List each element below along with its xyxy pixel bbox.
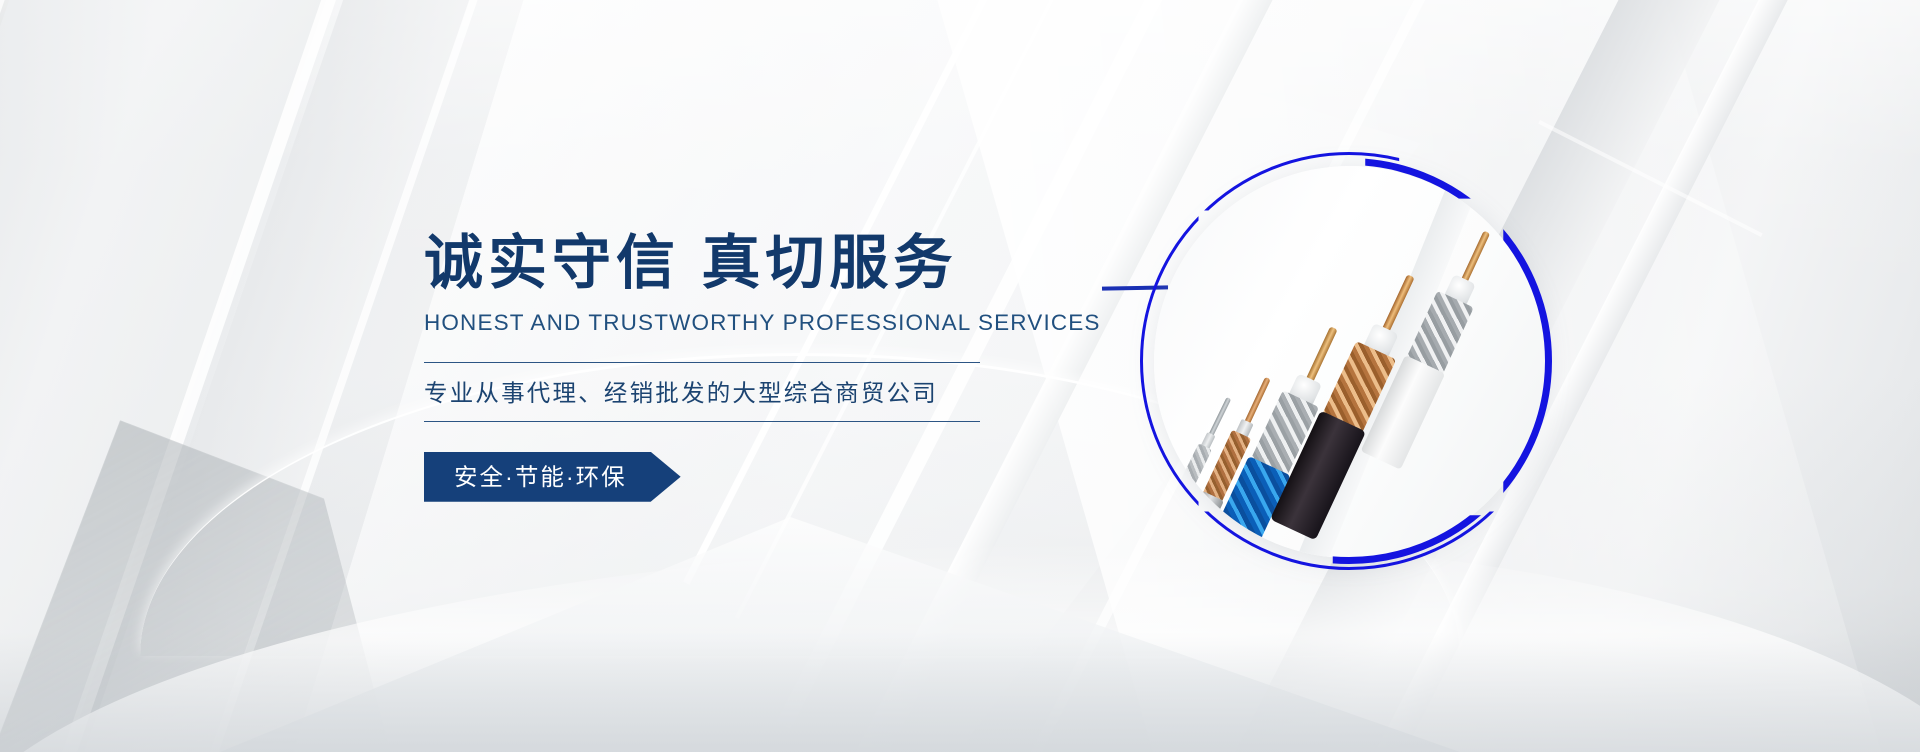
banner-copy-block: 诚实守信 真切服务 HONEST AND TRUSTWORTHY PROFESS… (424, 232, 1064, 502)
description-rule-box: 专业从事代理、经销批发的大型综合商贸公司 (424, 362, 980, 422)
subtitle-english: HONEST AND TRUSTWORTHY PROFESSIONAL SERV… (424, 310, 1064, 336)
background-floor-shade (0, 632, 1920, 752)
description-text: 专业从事代理、经销批发的大型综合商贸公司 (424, 374, 980, 408)
feature-tag-badge[interactable]: 安全·节能·环保 (424, 452, 681, 502)
promo-banner: 诚实守信 真切服务 HONEST AND TRUSTWORTHY PROFESS… (0, 0, 1920, 752)
product-photo-circle (1154, 166, 1546, 558)
product-media (1140, 152, 1558, 570)
page-title: 诚实守信 真切服务 (424, 232, 1064, 296)
